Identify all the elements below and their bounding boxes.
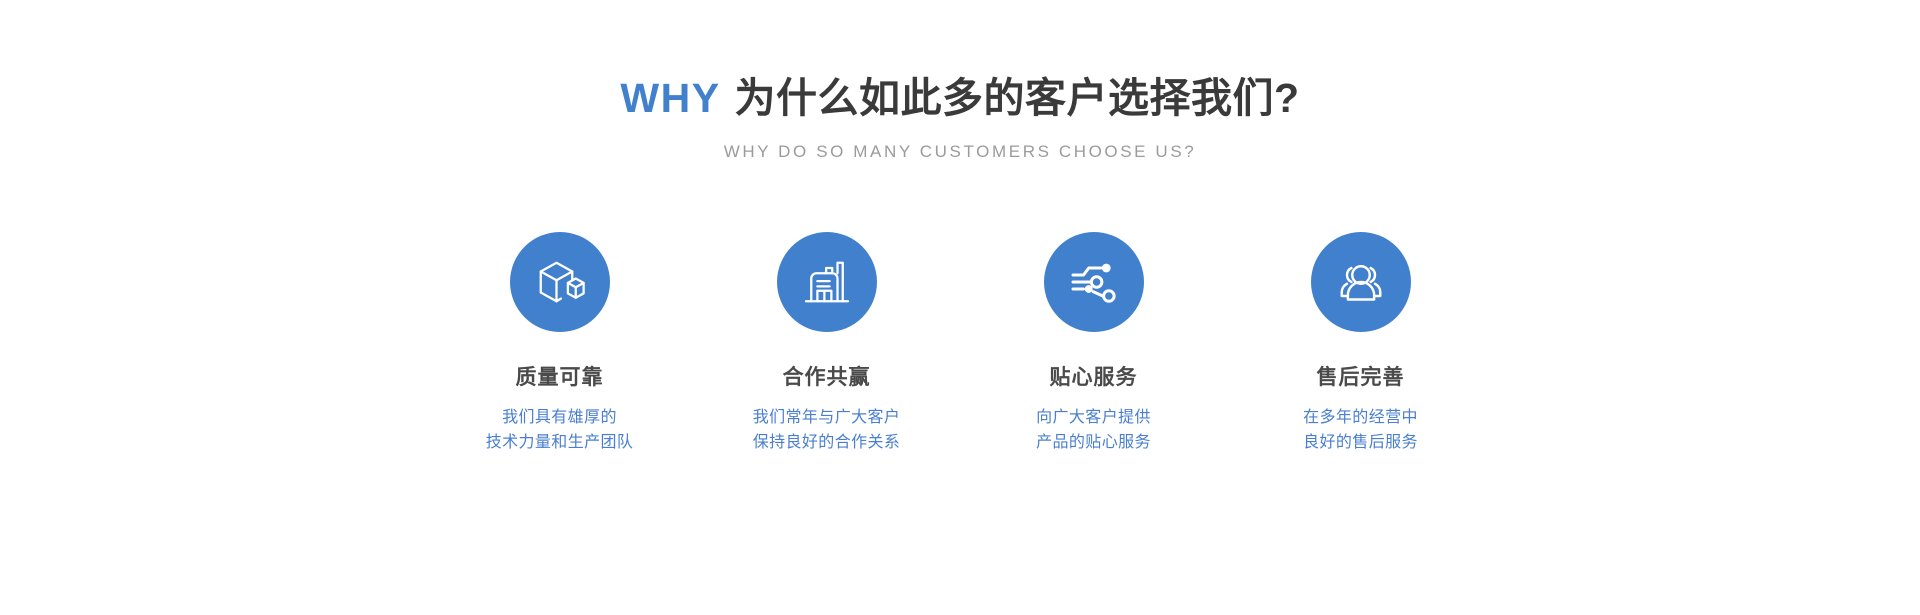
feature-card-quality[interactable]: 质量可靠 我们具有雄厚的 技术力量和生产团队: [426, 232, 693, 456]
people-group-icon: [1333, 254, 1389, 310]
card-description: 我们常年与广大客户 保持良好的合作关系: [753, 406, 901, 456]
card-title: 合作共赢: [783, 365, 871, 390]
feature-card-aftersales[interactable]: 售后完善 在多年的经营中 良好的售后服务: [1227, 232, 1494, 456]
factory-icon: [799, 254, 855, 310]
why-choose-us-section: WHY为什么如此多的客户选择我们? WHY DO SO MANY CUSTOME…: [0, 0, 1920, 615]
card-description: 我们具有雄厚的 技术力量和生产团队: [486, 406, 634, 456]
card-description-line-2: 保持良好的合作关系: [753, 431, 901, 456]
card-description-line-1: 我们具有雄厚的: [486, 406, 634, 431]
heading-main-text: 为什么如此多的客户选择我们?: [735, 75, 1300, 121]
card-description-line-1: 向广大客户提供: [1036, 406, 1151, 431]
page-subtitle: WHY DO SO MANY CUSTOMERS CHOOSE US?: [0, 142, 1920, 162]
card-description: 向广大客户提供 产品的贴心服务: [1036, 406, 1151, 456]
card-description-line-1: 在多年的经营中: [1303, 406, 1418, 431]
page-title: WHY为什么如此多的客户选择我们?: [0, 74, 1920, 122]
heading-accent-why: WHY: [620, 75, 720, 121]
icon-circle-aftersales: [1311, 232, 1411, 332]
icon-circle-quality: [510, 232, 610, 332]
card-title: 售后完善: [1317, 365, 1405, 390]
icon-circle-cooperation: [777, 232, 877, 332]
feature-card-cooperation[interactable]: 合作共赢 我们常年与广大客户 保持良好的合作关系: [693, 232, 960, 456]
heading-block: WHY为什么如此多的客户选择我们? WHY DO SO MANY CUSTOME…: [0, 74, 1920, 162]
card-description: 在多年的经营中 良好的售后服务: [1303, 406, 1418, 456]
icon-circle-service: [1044, 232, 1144, 332]
card-title: 质量可靠: [516, 365, 604, 390]
card-description-line-2: 技术力量和生产团队: [486, 431, 634, 456]
card-title: 贴心服务: [1050, 365, 1138, 390]
feature-cards-row: 质量可靠 我们具有雄厚的 技术力量和生产团队: [0, 232, 1920, 456]
card-description-line-1: 我们常年与广大客户: [753, 406, 901, 431]
card-description-line-2: 产品的贴心服务: [1036, 431, 1151, 456]
circuit-nodes-icon: [1066, 254, 1122, 310]
package-box-icon: [532, 254, 588, 310]
feature-card-service[interactable]: 贴心服务 向广大客户提供 产品的贴心服务: [960, 232, 1227, 456]
card-description-line-2: 良好的售后服务: [1303, 431, 1418, 456]
